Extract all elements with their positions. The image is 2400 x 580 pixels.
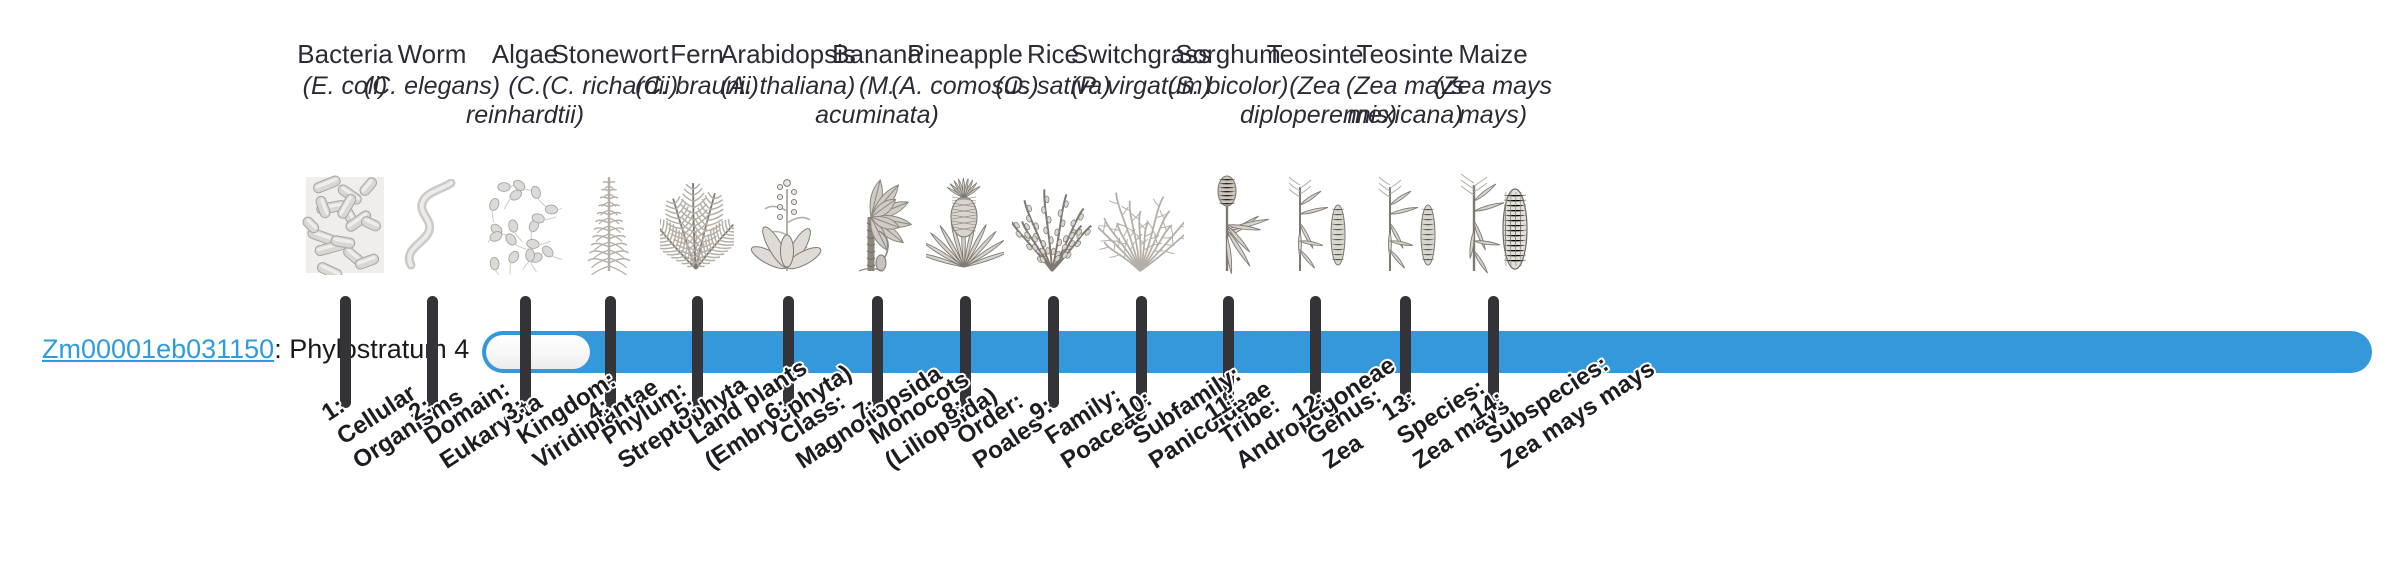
phylostratigraphy-figure: Zm00001eb031150: Phylostratum 4 Bacteria…	[0, 0, 2400, 580]
maize-illustration	[1418, 165, 1568, 275]
taxon-scientific-name: (Zea mays mays)	[1418, 72, 1568, 129]
taxon-common-name: Maize	[1418, 40, 1568, 69]
